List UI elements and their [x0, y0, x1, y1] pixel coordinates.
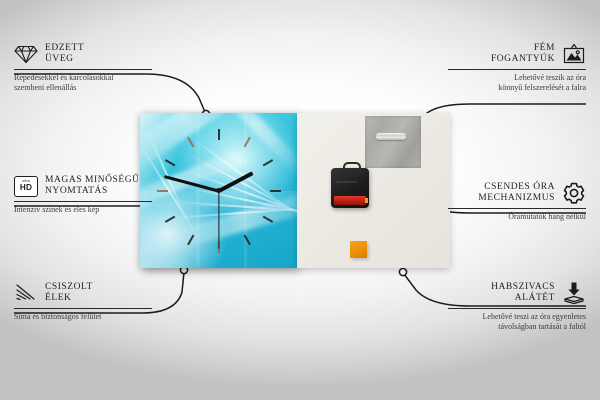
callout-rule — [448, 69, 586, 70]
callout-subtitle: Lehetővé teszi az óra egyenletes távolsá… — [448, 312, 586, 332]
ultra-hd-icon: ultra HD — [14, 174, 38, 198]
clock-mechanism — [331, 168, 369, 208]
metal-hanger-detail — [365, 116, 421, 168]
clock-second-hand — [218, 191, 219, 249]
callout-high-quality-print: ultra HD MAGAS MINŐSÉGŰ NYOMTATÁS Intenz… — [14, 174, 152, 215]
callout-rule — [14, 69, 152, 70]
clock-back-panel — [297, 113, 450, 268]
callout-rule — [448, 308, 586, 309]
callout-foam-pad: HABSZIVACS ALÁTÉT Lehetővé teszi az óra … — [448, 281, 586, 332]
foam-pad-arrow-icon — [562, 281, 586, 305]
product-image — [140, 113, 450, 268]
callout-silent-mechanism: CSENDES ÓRA MECHANIZMUS Óramutatók hang … — [448, 181, 586, 222]
callout-title: HABSZIVACS ALÁTÉT — [491, 282, 555, 305]
callout-subtitle: Intenzív színek és éles kép — [14, 205, 152, 215]
callout-subtitle: Sima és biztonságos felület — [14, 312, 152, 322]
callout-title: CSISZOLT ÉLEK — [45, 282, 93, 305]
callout-polished-edges: CSISZOLT ÉLEK Sima és biztonságos felüle… — [14, 281, 152, 322]
callout-subtitle: Repedésekkel és karcolásokkal szembeni e… — [14, 73, 152, 93]
polished-edges-icon — [14, 281, 38, 305]
callout-title: MAGAS MINŐSÉGŰ NYOMTATÁS — [45, 175, 140, 198]
callout-subtitle: Óramutatók hang nélkül — [448, 212, 586, 222]
battery — [334, 196, 366, 205]
connector-dot-foam-pad — [399, 268, 406, 275]
callout-metal-handles: FÉM FOGANTYÚK Lehetővé teszik az óra kön… — [448, 42, 586, 93]
callout-tempered-glass: EDZETT ÜVEG Repedésekkel és karcolásokka… — [14, 42, 152, 93]
callout-title: FÉM FOGANTYÚK — [491, 43, 555, 66]
callout-title: CSENDES ÓRA MECHANIZMUS — [478, 182, 555, 205]
gear-icon — [562, 181, 586, 205]
picture-hanger-icon — [562, 42, 586, 66]
clock-front-panel — [140, 113, 297, 268]
mechanism-slot — [336, 181, 357, 183]
callout-subtitle: Lehetővé teszik az óra könnyű felszerelé… — [448, 73, 586, 93]
callout-rule — [14, 308, 152, 309]
diamond-icon — [14, 42, 38, 66]
callout-rule — [14, 201, 152, 202]
mechanism-hanger-loop — [343, 162, 361, 173]
callout-rule — [448, 208, 586, 209]
clock-face — [140, 113, 297, 268]
infographic-canvas: EDZETT ÜVEG Repedésekkel és karcolásokka… — [0, 0, 600, 400]
foam-pad-sample — [350, 241, 367, 258]
callout-title: EDZETT ÜVEG — [45, 43, 84, 66]
clock-center-cap — [216, 188, 221, 193]
ultra-hd-main-text: HD — [20, 184, 32, 192]
